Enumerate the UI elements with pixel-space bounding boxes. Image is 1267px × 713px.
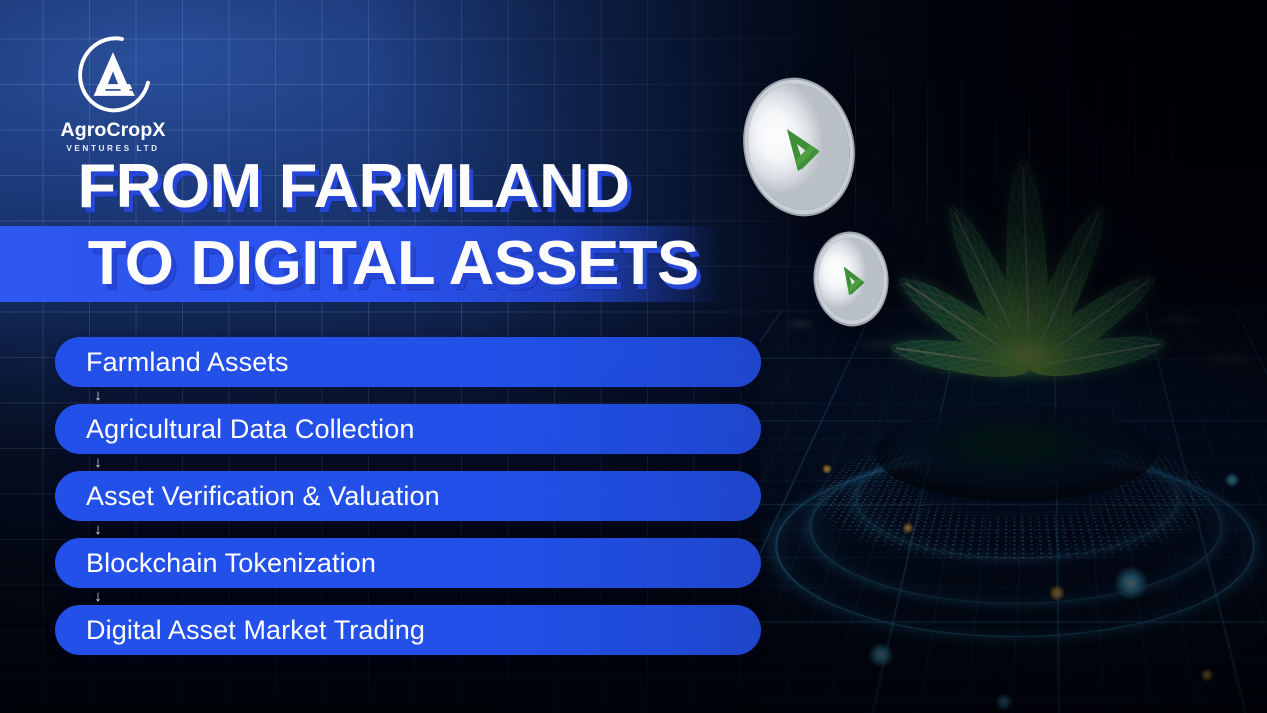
arrow-down-icon: ↓ (0, 588, 706, 605)
brand-lockup: AgroCropX VENTURES LTD (59, 32, 167, 153)
poster-canvas: AgroCropX VENTURES LTD FROM FARMLAND TO … (0, 0, 1267, 713)
step-pill-farmland-assets[interactable]: Farmland Assets (55, 337, 761, 387)
agrocropx-circle-logo-icon (71, 32, 155, 116)
headline-line-2-wrap: TO DIGITAL ASSETS (0, 226, 1267, 302)
brand-name: AgroCropX (59, 119, 167, 142)
step-label: Asset Verification & Valuation (55, 481, 440, 512)
arrow-down-icon: ↓ (0, 521, 706, 538)
headline-line-2: TO DIGITAL ASSETS (0, 227, 699, 301)
headline: FROM FARMLAND TO DIGITAL ASSETS (0, 150, 1267, 302)
step-pill-blockchain-tokenization[interactable]: Blockchain Tokenization (55, 538, 761, 588)
arrow-down-icon: ↓ (0, 387, 706, 404)
step-label: Agricultural Data Collection (55, 414, 414, 445)
brand-logo-icon (71, 32, 155, 116)
step-pill-agricultural-data-collection[interactable]: Agricultural Data Collection (55, 404, 761, 454)
process-steps: Farmland Assets ↓ Agricultural Data Coll… (55, 337, 761, 655)
step-label: Farmland Assets (55, 347, 289, 378)
step-label: Digital Asset Market Trading (55, 615, 425, 646)
arrow-down-icon: ↓ (0, 454, 706, 471)
step-pill-digital-asset-market-trading[interactable]: Digital Asset Market Trading (55, 605, 761, 655)
step-label: Blockchain Tokenization (55, 548, 376, 579)
headline-line-1: FROM FARMLAND (0, 150, 1267, 224)
step-pill-asset-verification-valuation[interactable]: Asset Verification & Valuation (55, 471, 761, 521)
